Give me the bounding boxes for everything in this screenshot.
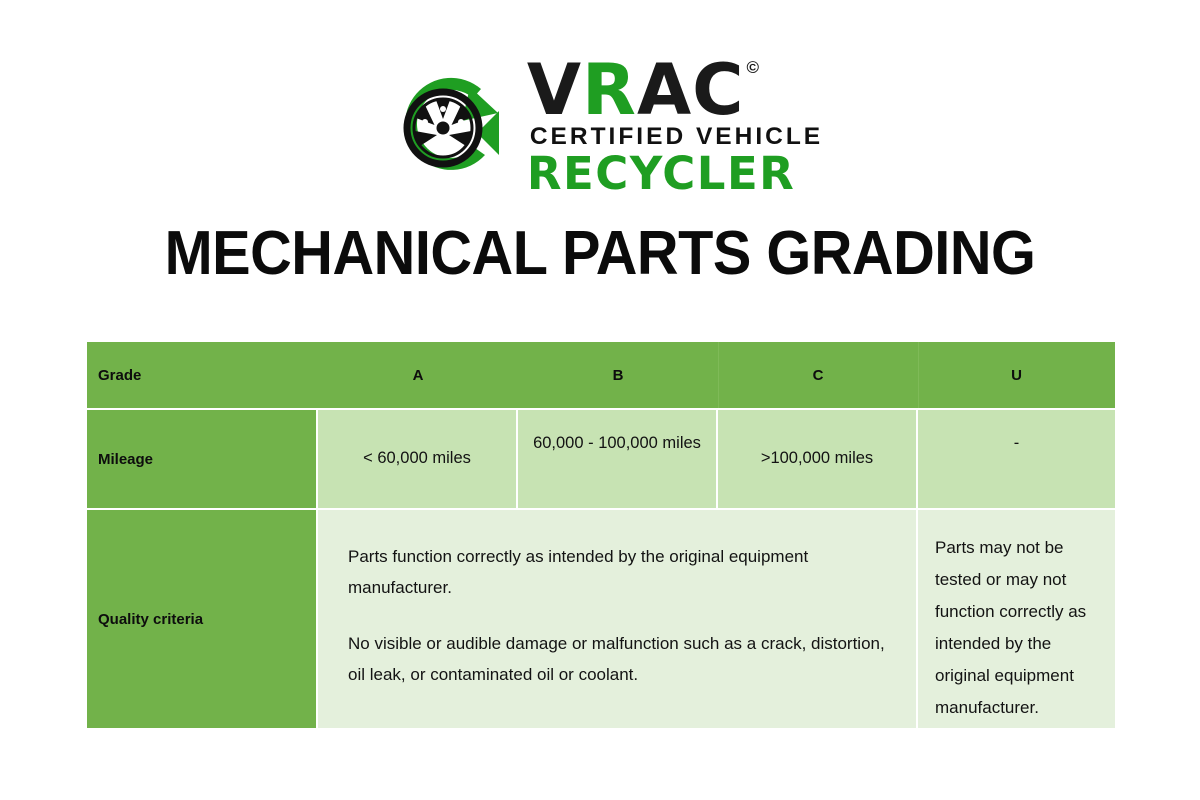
cell-quality-criteria-abc: Parts function correctly as intended by … [318,510,916,728]
header-cell-grade-a: A [318,342,518,408]
copyright-icon: © [746,60,760,76]
page-title: MECHANICAL PARTS GRADING [42,218,1158,289]
logo-letters-ac: AC [637,58,745,122]
row-label-quality-criteria: Quality criteria [87,510,316,728]
logo-letter-r: R [582,58,637,122]
cell-mileage-u: - [918,410,1115,508]
brand-logo: VRAC© CERTIFIED VEHICLE RECYCLER [0,52,1200,202]
header-cell-grade: Grade [98,367,141,384]
logo-wordmark: VRAC© CERTIFIED VEHICLE RECYCLER [527,58,823,197]
quality-paragraph-1: Parts function correctly as intended by … [348,542,890,604]
header-cell-grade-u: U [918,342,1115,408]
row-label-mileage: Mileage [87,410,316,508]
cell-mileage-c: >100,000 miles [718,410,916,508]
header-cell-grade-c: C [718,342,918,408]
header-cell-grade-b: B [518,342,718,408]
logo-inner: VRAC© CERTIFIED VEHICLE RECYCLER [377,58,823,197]
cell-mileage-a: < 60,000 miles [318,410,516,508]
quality-paragraph-2: No visible or audible damage or malfunct… [348,629,890,691]
mechanical-parts-grading-table: Grade A B C U Mileage < 60,000 miles 60,… [87,342,1115,728]
logo-letter-v: V [527,58,582,122]
logo-line-vrac: VRAC© [527,58,823,122]
wheel-recycle-arrow-icon [377,59,513,195]
logo-line-recycler: RECYCLER [527,151,823,196]
logo-line-certified-vehicle: CERTIFIED VEHICLE [530,125,823,150]
cell-mileage-b: 60,000 - 100,000 miles [518,410,716,508]
cell-quality-criteria-u: Parts may not be tested or may not funct… [918,510,1115,728]
